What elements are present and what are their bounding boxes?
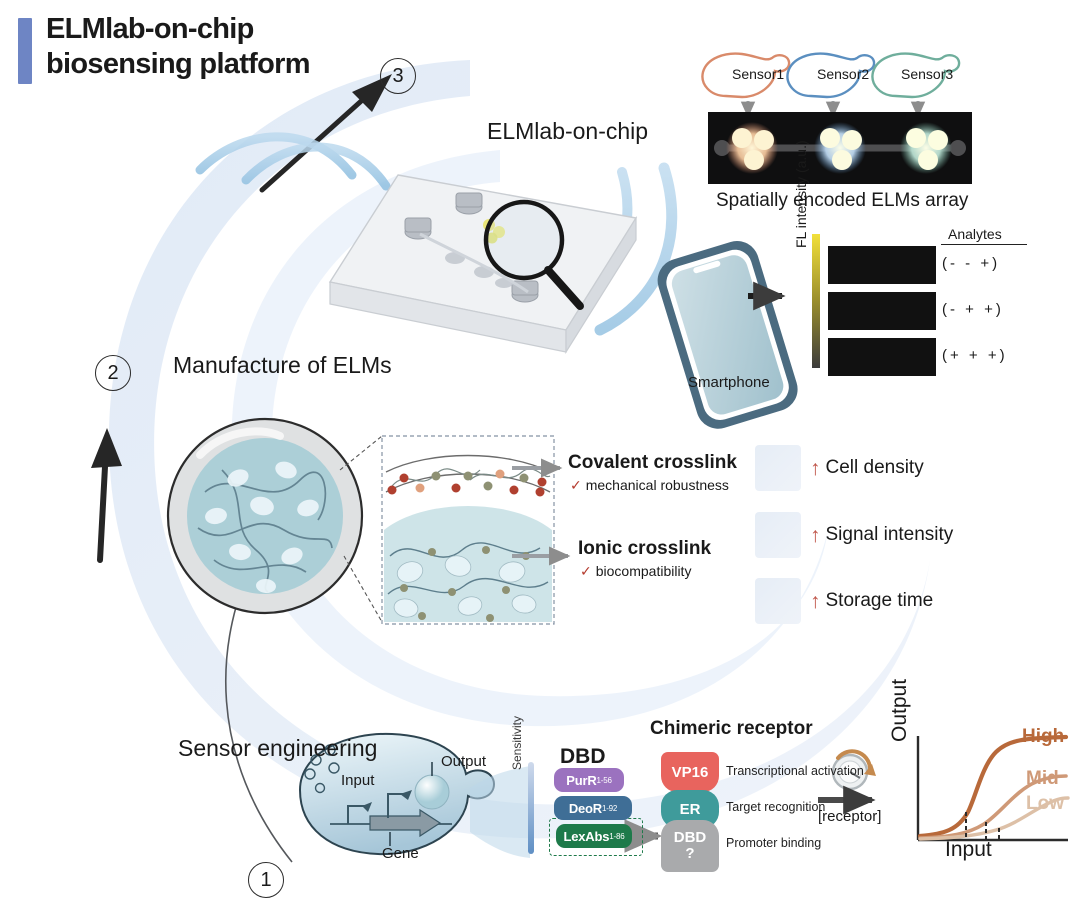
dbd-name-deor: DeoR — [569, 801, 602, 816]
ionic-crosslink-benefit: ✓biocompatibility — [580, 563, 691, 580]
receptor-function-er: Target recognition — [726, 800, 825, 814]
dbd-name-lexabs: LexAbs — [564, 829, 610, 844]
dbd-range-lexabs: 1-86 — [609, 832, 624, 841]
ionic-crosslink-title: Ionic crosslink — [578, 538, 711, 560]
receptor-concentration-label: [receptor] — [818, 808, 881, 825]
dbd-option-deor[interactable]: DeoR1-92 — [554, 796, 632, 820]
heading-manufacture: Manufacture of ELMs — [173, 352, 392, 379]
elms-array-strip — [708, 112, 972, 184]
covalent-crosslink-title: Covalent crosslink — [568, 452, 737, 474]
hydrogel-bead — [168, 419, 362, 613]
fl-strip-row-2 — [828, 292, 936, 330]
label-output: Output — [441, 753, 486, 770]
fl-axis-label: FL intensity (a.u.) — [793, 140, 809, 248]
analyte-signs-row-2: (- + +) — [942, 301, 1004, 318]
badge-label-storage-time: Storage time — [826, 590, 934, 612]
label-gene: Gene — [382, 845, 419, 862]
check-icon: ✓ — [580, 563, 592, 579]
smartphone-icon — [652, 236, 803, 435]
bead-icon — [755, 445, 801, 491]
heading-chip: ELMlab-on-chip — [487, 118, 648, 145]
receptor-function-vp16: Transcriptional activation — [726, 764, 864, 778]
clock-icon — [755, 578, 801, 624]
analyte-signs-row-3: (+ + +) — [942, 347, 1008, 364]
heading-chimeric-receptor: Chimeric receptor — [650, 718, 813, 740]
bar-chart-icon — [755, 512, 801, 558]
sensitivity-axis-label: Sensitivity — [510, 716, 524, 770]
badge-cell-density: ↑ Cell density — [755, 445, 924, 491]
analytes-header: Analytes — [948, 226, 1002, 242]
title-accent-bar — [18, 18, 32, 84]
receptor-function-dbd: Promoter binding — [726, 836, 821, 850]
up-arrow-icon: ↑ — [810, 591, 821, 612]
dbd-option-lexabs[interactable]: LexAbs1-86 — [556, 824, 632, 848]
chart-xlabel: Input — [945, 838, 992, 862]
fl-strip-row-3 — [828, 338, 936, 376]
array-caption: Spatially encoded ELMs array — [716, 190, 968, 212]
receptor-dbd-unknown: ? — [685, 846, 694, 862]
label-input: Input — [341, 772, 374, 789]
fl-colorbar — [812, 234, 820, 368]
up-arrow-icon: ↑ — [810, 458, 821, 479]
receptor-block-vp16: VP16 — [661, 752, 719, 792]
crosslink-inset — [382, 436, 554, 624]
badge-storage-time: ↑ Storage time — [755, 578, 933, 624]
fl-strip-row-1 — [828, 246, 936, 284]
up-arrow-icon: ↑ — [810, 525, 821, 546]
dbd-range-purr: 1-56 — [597, 776, 612, 785]
check-icon: ✓ — [570, 477, 582, 493]
sensor-label-3: Sensor3 — [901, 66, 953, 82]
analytes-rule — [941, 244, 1027, 245]
analyte-signs-row-1: (- - +) — [942, 255, 1000, 272]
dbd-name-purr: PurR — [566, 773, 596, 788]
covalent-crosslink-benefit: ✓mechanical robustness — [570, 477, 729, 494]
curve-label-high: High — [1022, 726, 1064, 748]
curve-label-mid: Mid — [1026, 768, 1059, 790]
chart-ylabel: Output — [888, 679, 912, 742]
heading-dbd: DBD — [560, 745, 606, 769]
dbd-range-deor: 1-92 — [602, 804, 617, 813]
badge-label-signal-intensity: Signal intensity — [826, 524, 954, 546]
smartphone-label: Smartphone — [688, 374, 770, 391]
step-marker-3: 3 — [380, 58, 416, 94]
step-marker-1: 1 — [248, 862, 284, 898]
step-marker-2: 2 — [95, 355, 131, 391]
dbd-option-purr[interactable]: PurR1-56 — [554, 768, 624, 792]
covalent-benefit-text: mechanical robustness — [586, 477, 729, 493]
curve-label-low: Low — [1026, 793, 1064, 815]
badge-label-cell-density: Cell density — [826, 457, 924, 479]
sensitivity-gradient-bar — [528, 762, 534, 854]
ionic-benefit-text: biocompatibility — [596, 563, 692, 579]
sensor-label-1: Sensor1 — [732, 66, 784, 82]
receptor-dbd-label: DBD — [674, 830, 707, 846]
page-title: ELMlab-on-chip biosensing platform — [46, 12, 310, 83]
receptor-block-dbd: DBD ? — [661, 820, 719, 872]
heading-sensor-engineering: Sensor engineering — [178, 735, 377, 762]
sensor-label-2: Sensor2 — [817, 66, 869, 82]
badge-signal-intensity: ↑ Signal intensity — [755, 512, 953, 558]
